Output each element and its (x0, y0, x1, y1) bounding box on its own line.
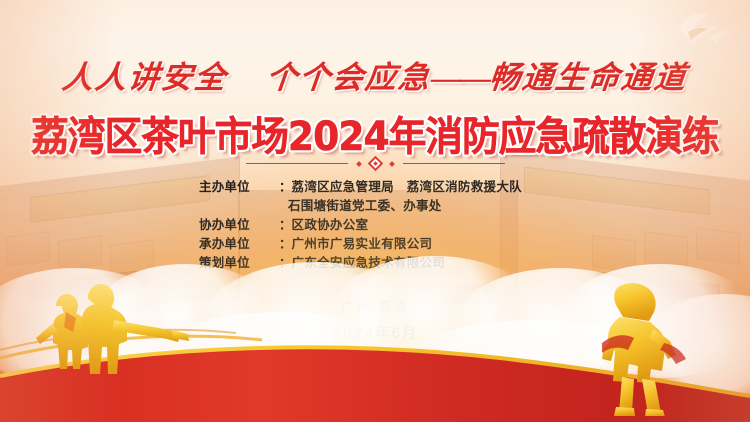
slogan-part-3: 畅通生命通道 (487, 60, 689, 95)
divider-line-left (246, 163, 348, 165)
divider-diamond (367, 156, 383, 172)
organizer-row: 石围塘街道党工委、办事处 (199, 195, 551, 214)
firefighter-silhouette (574, 281, 704, 416)
organizer-value: 广东全安应急技术有限公司 (292, 252, 446, 271)
organizer-row: 策划单位 ： 广东全安应急技术有限公司 (199, 252, 551, 271)
organizer-label: 策划单位 (199, 252, 279, 271)
page-title: 荔湾区茶叶市场2024年消防应急疏散演练 (23, 104, 728, 162)
organizer-row: 协办单位 ： 区政协办公室 (199, 214, 551, 233)
organizer-label: 协办单位 (199, 214, 279, 233)
slogan-part-1: 人人讲安全 (60, 60, 229, 95)
organizer-value: 荔湾区应急管理局 荔湾区消防救援大队 (292, 176, 522, 195)
divider-dot-right (389, 161, 395, 167)
organizer-colon: ： (279, 233, 292, 252)
organizer-row: 主办单位 ： 荔湾区应急管理局 荔湾区消防救援大队 (199, 176, 551, 195)
divider-dot-left (356, 161, 362, 167)
organizer-value: 石围塘街道党工委、办事处 (288, 195, 442, 214)
slogan-text: 人人讲安全 个个会应急——畅通生命通道 (0, 52, 750, 97)
organizer-colon: ： (279, 252, 292, 271)
organizer-row: 承办单位 ： 广州市广易实业有限公司 (199, 233, 551, 252)
organizer-value: 广州市广易实业有限公司 (292, 233, 433, 252)
slogan-dash: —— (429, 60, 491, 95)
organizer-label: 主办单位 (199, 176, 279, 195)
organizer-list: 主办单位 ： 荔湾区应急管理局 荔湾区消防救援大队 石围塘街道党工委、办事处 协… (0, 176, 750, 271)
organizer-label: 承办单位 (199, 233, 279, 252)
firefighter-hose-silhouette (22, 276, 192, 396)
divider-line-right (403, 163, 505, 165)
organizer-colon: ： (279, 176, 292, 195)
organizer-value: 区政协办公室 (292, 214, 369, 233)
slogan-part-2: 个个会应急 (264, 60, 433, 95)
divider-ornament (0, 158, 750, 169)
organizer-colon: ： (279, 214, 292, 233)
poster-canvas: 人人讲安全 个个会应急——畅通生命通道 荔湾区茶叶市场2024年消防应急疏散演练… (0, 0, 750, 422)
